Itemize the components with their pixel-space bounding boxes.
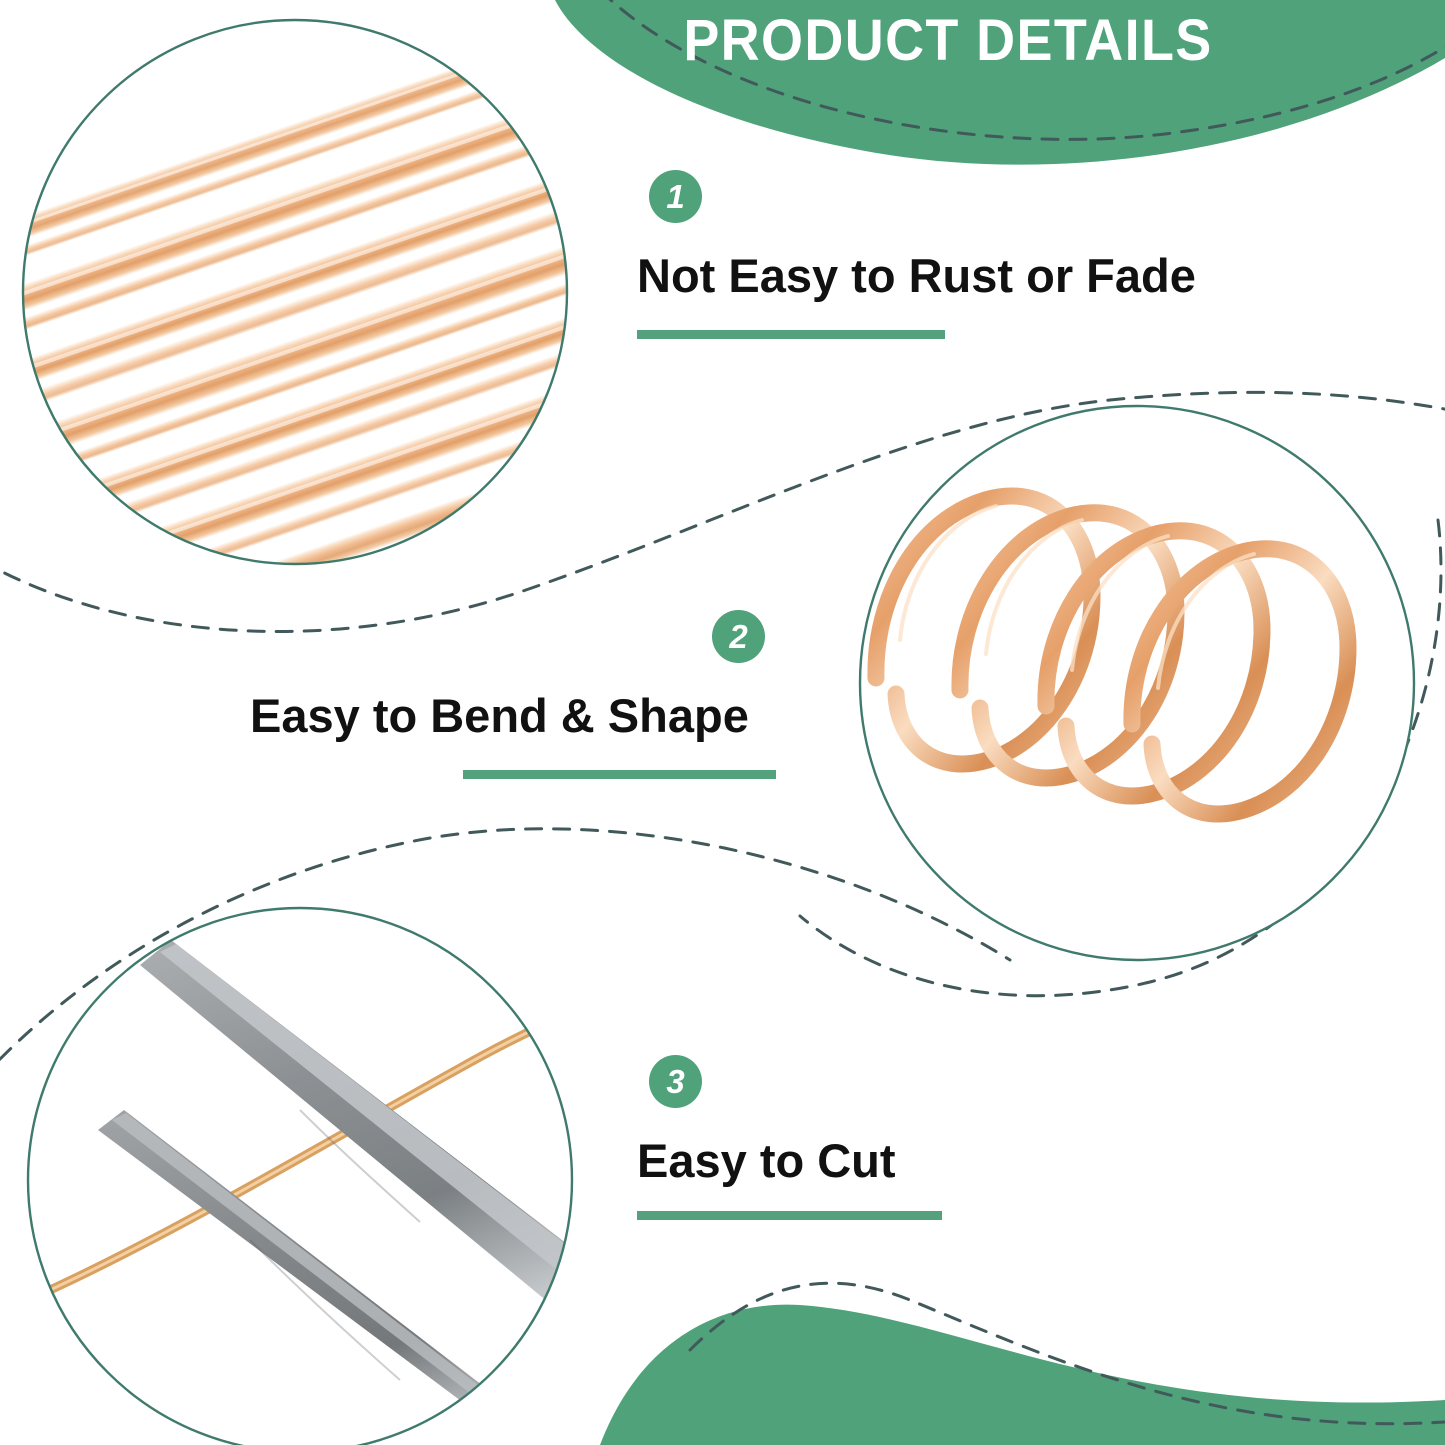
feature-badge-2: 2	[712, 610, 765, 663]
feature-badge-3: 3	[649, 1055, 702, 1108]
page-title: PRODUCT DETAILS	[650, 10, 1245, 72]
feature-underline-2	[463, 770, 776, 779]
feature-item-2: 2 Easy to Bend & Shape	[250, 610, 780, 785]
feature-underline-3	[637, 1211, 942, 1220]
feature-title-1: Not Easy to Rust or Fade	[637, 248, 1196, 304]
feature-underline-1	[637, 330, 945, 339]
feature-title-2: Easy to Bend & Shape	[250, 688, 749, 744]
feature-item-1: 1 Not Easy to Rust or Fade	[637, 170, 1337, 360]
product-details-infographic: PRODUCT DETAILS 1 Not Easy to Rust or Fa…	[0, 0, 1445, 1445]
feature-badge-1: 1	[649, 170, 702, 223]
feature-title-3: Easy to Cut	[637, 1133, 896, 1189]
feature-item-3: 3 Easy to Cut	[637, 1055, 1337, 1230]
photo-copper-coil	[850, 400, 1430, 980]
